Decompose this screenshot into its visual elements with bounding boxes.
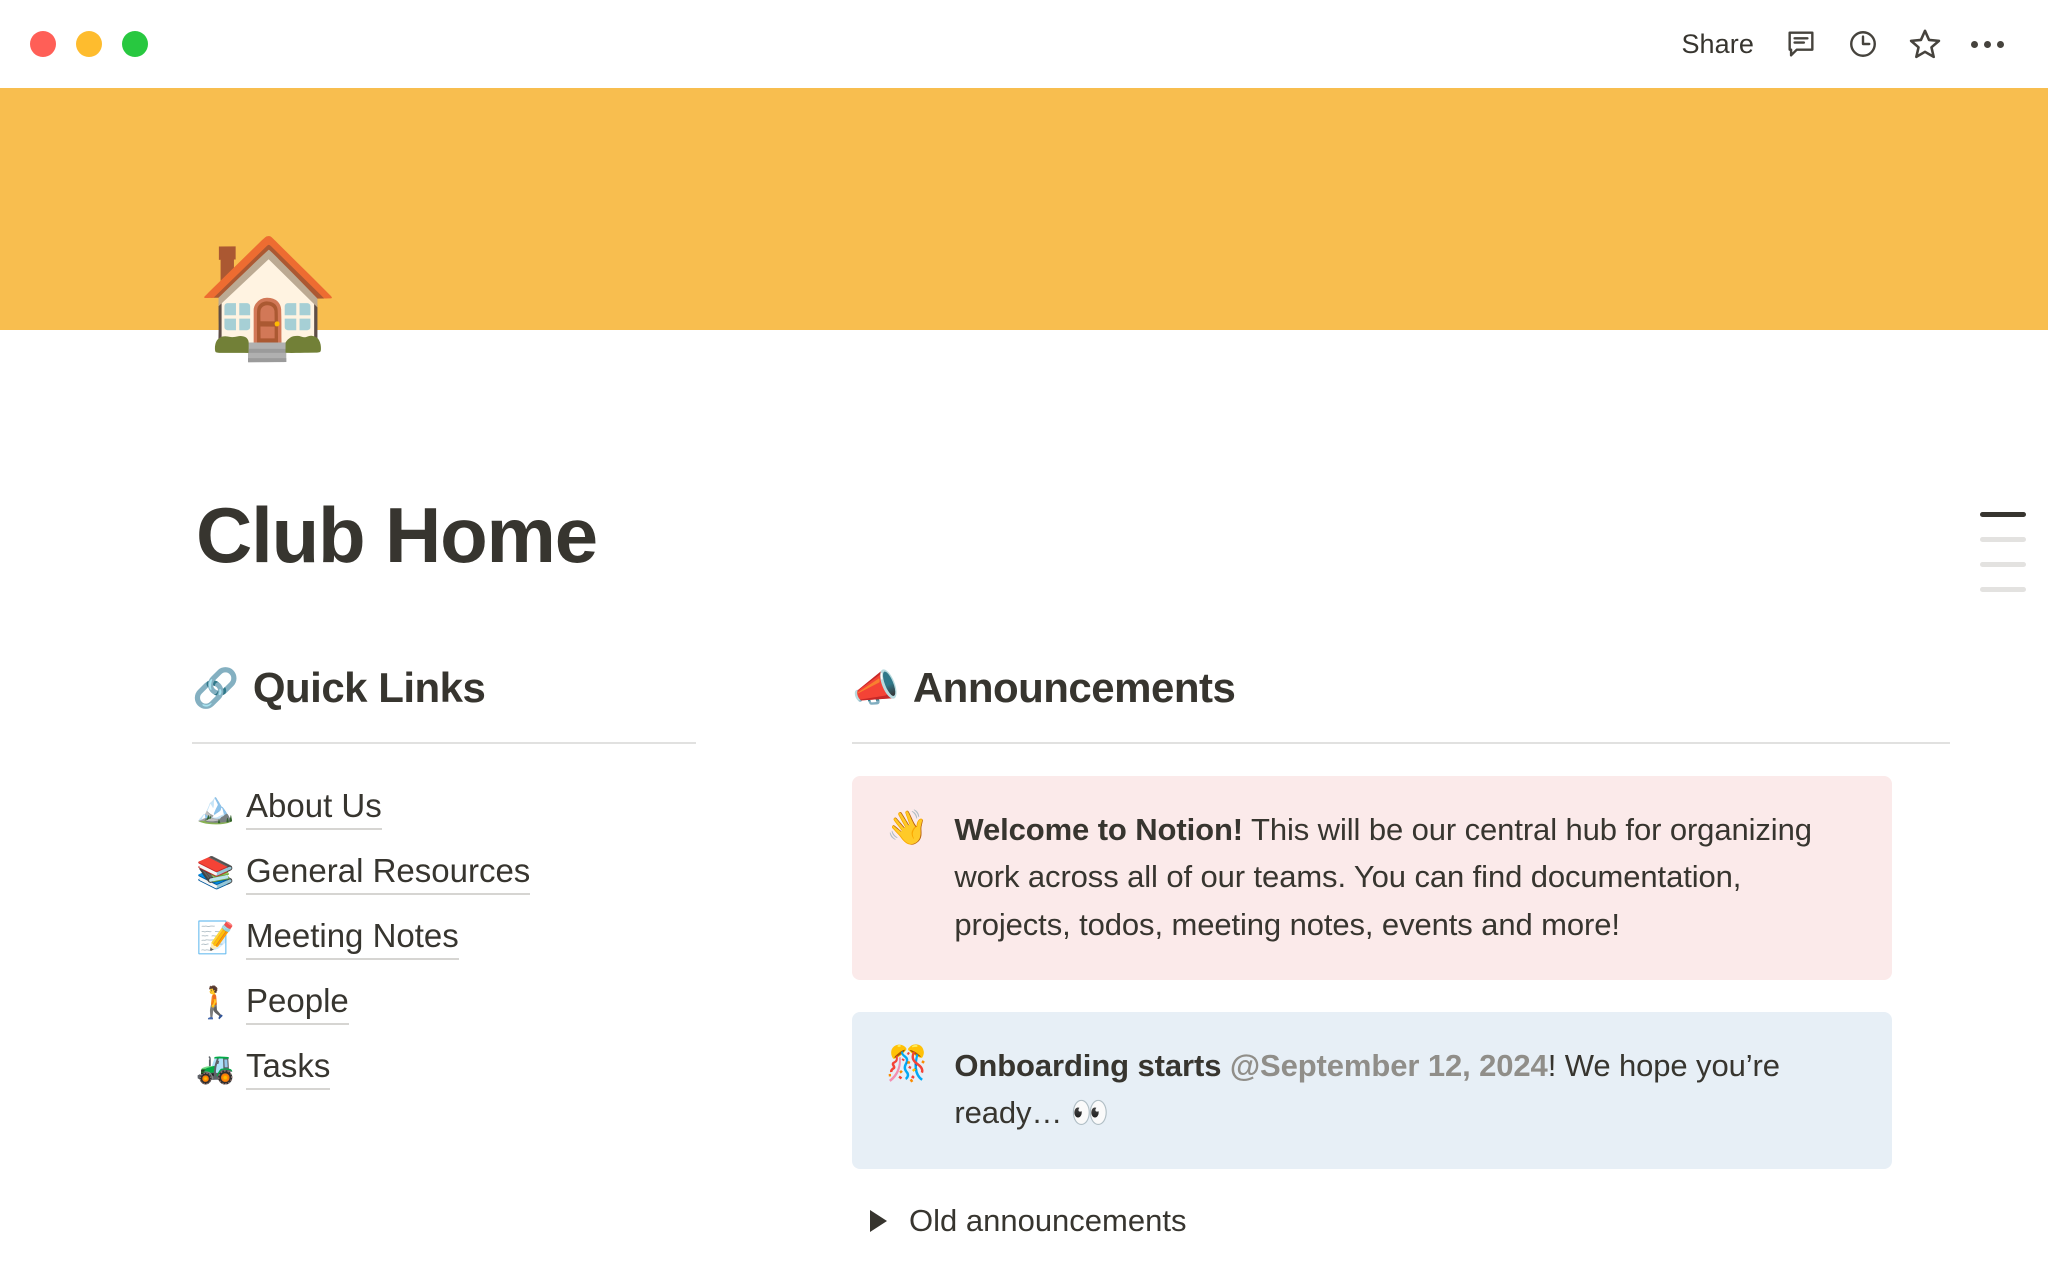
callout-welcome-bold: Welcome to Notion! <box>954 812 1243 847</box>
callout-onboarding-bold: Onboarding starts <box>954 1048 1221 1083</box>
quick-links-divider <box>192 742 696 744</box>
window-controls <box>30 31 148 57</box>
date-mention[interactable]: @September 12, 2024 <box>1230 1048 1548 1083</box>
megaphone-icon: 📣 <box>852 669 899 707</box>
app-window: Share <box>0 0 2048 1280</box>
close-window-button[interactable] <box>30 31 56 57</box>
maximize-window-button[interactable] <box>122 31 148 57</box>
minimize-window-button[interactable] <box>76 31 102 57</box>
star-icon[interactable] <box>1894 18 1956 70</box>
toggle-old-announcements[interactable]: Old announcements <box>852 1203 1892 1239</box>
link-meeting-notes[interactable]: Meeting Notes <box>246 917 459 960</box>
more-icon[interactable] <box>1956 18 2018 70</box>
page-title[interactable]: Club Home <box>196 496 597 574</box>
list-item[interactable]: 📝 Meeting Notes <box>192 906 792 971</box>
link-tasks[interactable]: Tasks <box>246 1047 330 1090</box>
announcements-divider <box>852 742 1950 744</box>
list-item[interactable]: 📚 General Resources <box>192 841 792 906</box>
list-item[interactable]: 🚶 People <box>192 971 792 1036</box>
outline-bar-inactive[interactable] <box>1980 587 2026 592</box>
table-of-contents-indicator[interactable] <box>1980 512 2026 592</box>
link-about-us[interactable]: About Us <box>246 787 382 830</box>
link-general-resources[interactable]: General Resources <box>246 852 530 895</box>
link-icon: 🔗 <box>192 669 239 707</box>
quick-links-heading: 🔗 Quick Links <box>192 664 792 712</box>
comment-icon[interactable] <box>1770 18 1832 70</box>
outline-bar-inactive[interactable] <box>1980 537 2026 542</box>
announcements-heading: 📣 Announcements <box>852 664 1892 712</box>
callout-welcome-text: Welcome to Notion! This will be our cent… <box>954 806 1858 947</box>
link-people[interactable]: People <box>246 982 349 1025</box>
share-button[interactable]: Share <box>1665 21 1770 68</box>
quick-links-column: 🔗 Quick Links 🏔️ About Us 📚 General Reso… <box>192 664 792 1238</box>
page-icon[interactable]: 🏠 <box>196 240 340 356</box>
titlebar-actions: Share <box>1665 18 2018 70</box>
books-icon: 📚 <box>196 858 230 889</box>
confetti-ball-icon: 🎊 <box>886 1042 928 1137</box>
quick-links-heading-label: Quick Links <box>253 664 486 712</box>
list-item[interactable]: 🚜 Tasks <box>192 1036 792 1101</box>
memo-icon: 📝 <box>196 923 230 954</box>
content-columns: 🔗 Quick Links 🏔️ About Us 📚 General Reso… <box>192 664 1892 1238</box>
clock-icon[interactable] <box>1832 18 1894 70</box>
callout-welcome[interactable]: 👋 Welcome to Notion! This will be our ce… <box>852 776 1892 979</box>
eyes-icon: 👀 <box>1071 1095 1110 1131</box>
outline-bar-active[interactable] <box>1980 512 2026 517</box>
outline-bar-inactive[interactable] <box>1980 562 2026 567</box>
mountain-icon: 🏔️ <box>196 793 230 824</box>
waving-hand-icon: 👋 <box>886 806 928 947</box>
toggle-old-announcements-label[interactable]: Old announcements <box>909 1203 1186 1239</box>
tractor-icon: 🚜 <box>196 1053 230 1084</box>
person-walking-icon: 🚶 <box>196 988 230 1019</box>
quick-links-list: 🏔️ About Us 📚 General Resources 📝 Meetin… <box>192 776 792 1101</box>
announcements-heading-label: Announcements <box>913 664 1236 712</box>
chevron-right-icon[interactable] <box>870 1210 887 1232</box>
callout-onboarding[interactable]: 🎊 Onboarding starts @September 12, 2024!… <box>852 1012 1892 1169</box>
callout-onboarding-text: Onboarding starts @September 12, 2024! W… <box>954 1042 1858 1137</box>
announcements-column: 📣 Announcements 👋 Welcome to Notion! Thi… <box>792 664 1892 1238</box>
titlebar: Share <box>0 0 2048 88</box>
list-item[interactable]: 🏔️ About Us <box>192 776 792 841</box>
